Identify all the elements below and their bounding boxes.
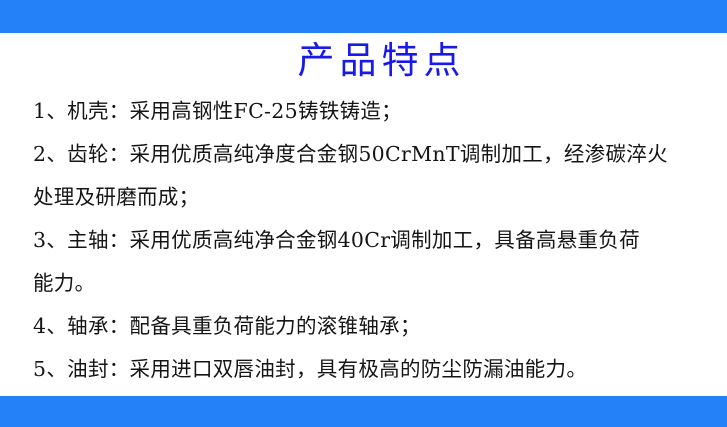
page-title: 产品特点 xyxy=(0,33,727,88)
top-banner xyxy=(0,0,727,33)
bottom-banner xyxy=(0,396,727,427)
list-item: 1、机壳：采用高钢性FC-25铸铁铸造； xyxy=(33,90,713,133)
list-item: 2、齿轮：采用优质高纯净度合金钢50CrMnT调制加工，经渗碳淬火 xyxy=(33,133,713,176)
list-item: 3、主轴：采用优质高纯净合金钢40Cr调制加工，具备高悬重负荷 xyxy=(33,219,713,262)
list-item: 5、油封：采用进口双唇油封，具有极高的防尘防漏油能力。 xyxy=(33,348,713,391)
product-features-slide: 产品特点 1、机壳：采用高钢性FC-25铸铁铸造； 2、齿轮：采用优质高纯净度合… xyxy=(0,0,727,427)
list-item: 4、轴承：配备具重负荷能力的滚锥轴承； xyxy=(33,305,713,348)
feature-list: 1、机壳：采用高钢性FC-25铸铁铸造； 2、齿轮：采用优质高纯净度合金钢50C… xyxy=(33,90,713,391)
list-item-continuation: 处理及研磨而成； xyxy=(33,176,713,219)
list-item-continuation: 能力。 xyxy=(33,262,713,305)
